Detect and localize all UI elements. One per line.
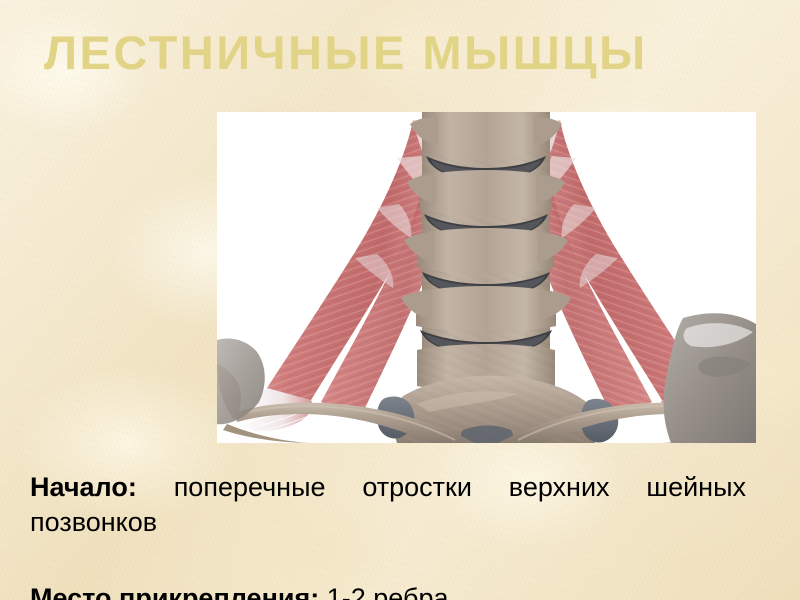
anatomy-figure-panel: [217, 112, 756, 443]
description-text-block: Начало: поперечные отростки верхних шейн…: [30, 470, 746, 600]
scapula-right: [664, 313, 756, 443]
origin-paragraph: Начало: поперечные отростки верхних шейн…: [30, 470, 746, 575]
insertion-value: 1-2 ребра: [327, 583, 449, 600]
slide: ЛЕСТНИЧНЫЕ МЫШЦЫ: [0, 0, 800, 600]
origin-value: поперечные отростки верхних шейных позво…: [30, 472, 746, 537]
cervical-spine-scalene-illustration: [217, 112, 756, 443]
insertion-label: Место прикрепления: [30, 583, 310, 600]
insertion-separator: :: [310, 583, 319, 600]
origin-separator: :: [128, 472, 137, 502]
cervical-vertebral-column: [401, 112, 571, 392]
page-title: ЛЕСТНИЧНЫЕ МЫШЦЫ: [44, 28, 756, 77]
origin-label: Начало: [30, 472, 128, 502]
insertion-paragraph: Место прикрепления: 1-2 ребра: [30, 581, 746, 600]
